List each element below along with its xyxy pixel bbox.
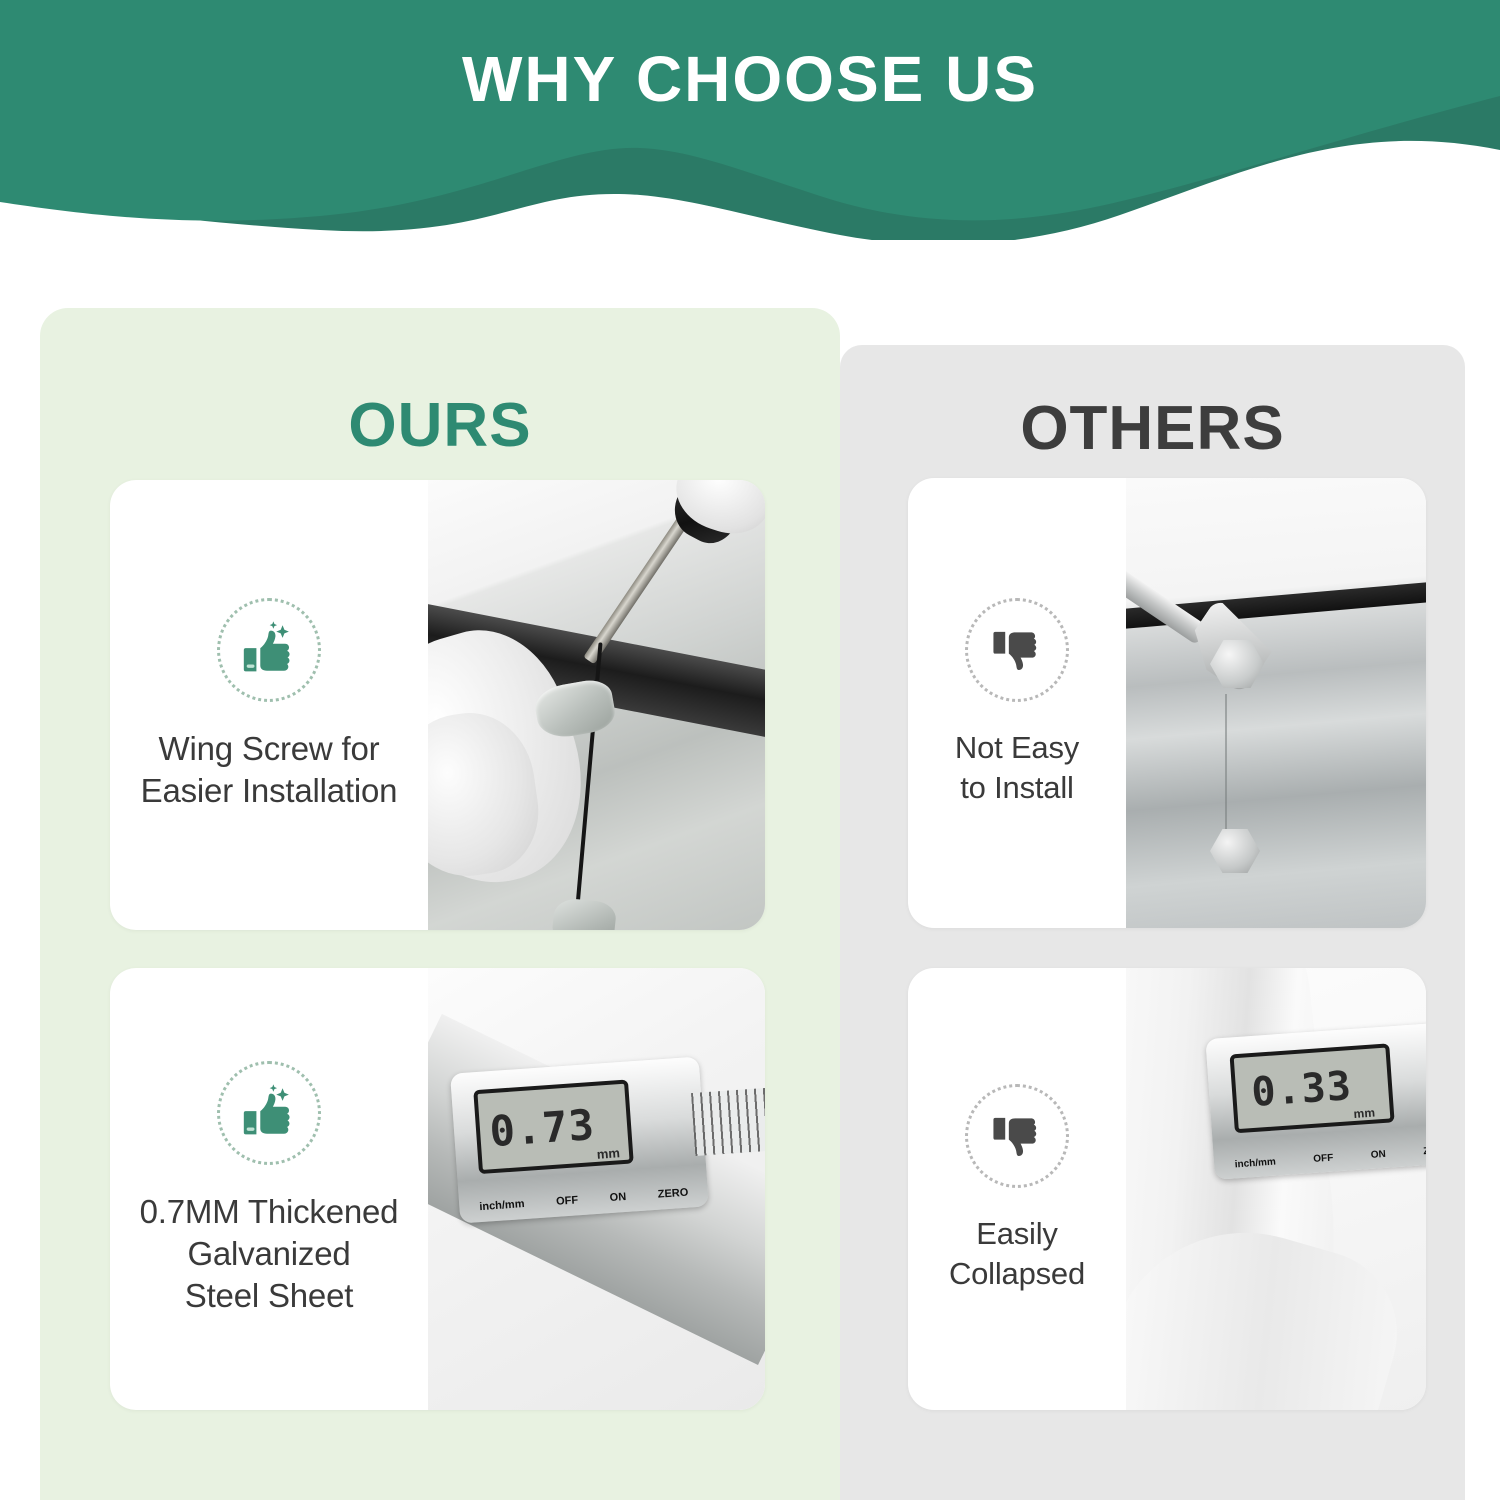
caliper-reading: 0.73	[488, 1100, 596, 1156]
feature-card-text-area: Not Easy to Install	[908, 478, 1126, 928]
feature-photo-wrench-hex-nut	[1126, 478, 1426, 928]
caliper-reading: 0.33	[1250, 1063, 1353, 1116]
caliper-button-on[interactable]: ON	[609, 1191, 626, 1204]
comparison-panels: OURS OTHERS Wing Screw for Easier Instal…	[0, 0, 1500, 1500]
feature-card-text-area: 0.7MM Thickened Galvanized Steel Sheet	[110, 968, 428, 1410]
feature-card-thickened-sheet: 0.7MM Thickened Galvanized Steel Sheet 0…	[110, 968, 765, 1410]
feature-photo-gloved-hand-screwdriver	[428, 480, 765, 930]
caliper-button-row[interactable]: inch/mm OFF ON ZERO	[479, 1187, 689, 1214]
feature-label: Wing Screw for Easier Installation	[135, 728, 404, 812]
caliper-display: 0.33 mm	[1230, 1043, 1395, 1133]
feature-label: Easily Collapsed	[943, 1214, 1091, 1293]
thumbs-up-sparkle-icon	[217, 598, 321, 702]
digital-caliper: 0.33 mm inch/mm OFF ON ZERO	[1205, 1021, 1426, 1180]
caliper-button-inch-mm[interactable]: inch/mm	[1234, 1156, 1276, 1170]
caliper-button-off[interactable]: OFF	[556, 1195, 579, 1209]
thumbs-down-icon	[965, 1084, 1069, 1188]
caliper-unit: mm	[1353, 1106, 1375, 1121]
feature-label: 0.7MM Thickened Galvanized Steel Sheet	[134, 1191, 405, 1318]
panel-others-heading: OTHERS	[840, 393, 1465, 464]
feature-card-not-easy-install: Not Easy to Install	[908, 478, 1426, 928]
caliper-button-on[interactable]: ON	[1370, 1149, 1386, 1161]
feature-photo-caliper-galvanized: 0.73 mm inch/mm OFF ON ZERO	[428, 968, 765, 1410]
feature-card-easily-collapsed: Easily Collapsed 0.33 mm inch/mm OFF ON	[908, 968, 1426, 1410]
caliper-button-zero[interactable]: ZERO	[657, 1187, 688, 1201]
caliper-button-row[interactable]: inch/mm OFF ON ZERO	[1234, 1144, 1426, 1170]
thumbs-down-icon	[965, 598, 1069, 702]
feature-photo-caliper-collapsed: 0.33 mm inch/mm OFF ON ZERO	[1126, 968, 1426, 1410]
caliper-display: 0.73 mm	[474, 1080, 634, 1175]
feature-label: Not Easy to Install	[949, 728, 1085, 807]
thumbs-up-sparkle-icon	[217, 1061, 321, 1165]
feature-card-text-area: Easily Collapsed	[908, 968, 1126, 1410]
caliper-scale	[691, 1087, 765, 1156]
digital-caliper: 0.73 mm inch/mm OFF ON ZERO	[450, 1057, 709, 1224]
feature-card-text-area: Wing Screw for Easier Installation	[110, 480, 428, 930]
panel-ours-heading: OURS	[40, 390, 840, 461]
feature-card-wing-screw: Wing Screw for Easier Installation	[110, 480, 765, 930]
caliper-button-zero[interactable]: ZERO	[1423, 1144, 1426, 1157]
caliper-unit: mm	[596, 1146, 620, 1163]
caliper-button-inch-mm[interactable]: inch/mm	[479, 1199, 525, 1214]
caliper-button-off[interactable]: OFF	[1313, 1152, 1334, 1164]
